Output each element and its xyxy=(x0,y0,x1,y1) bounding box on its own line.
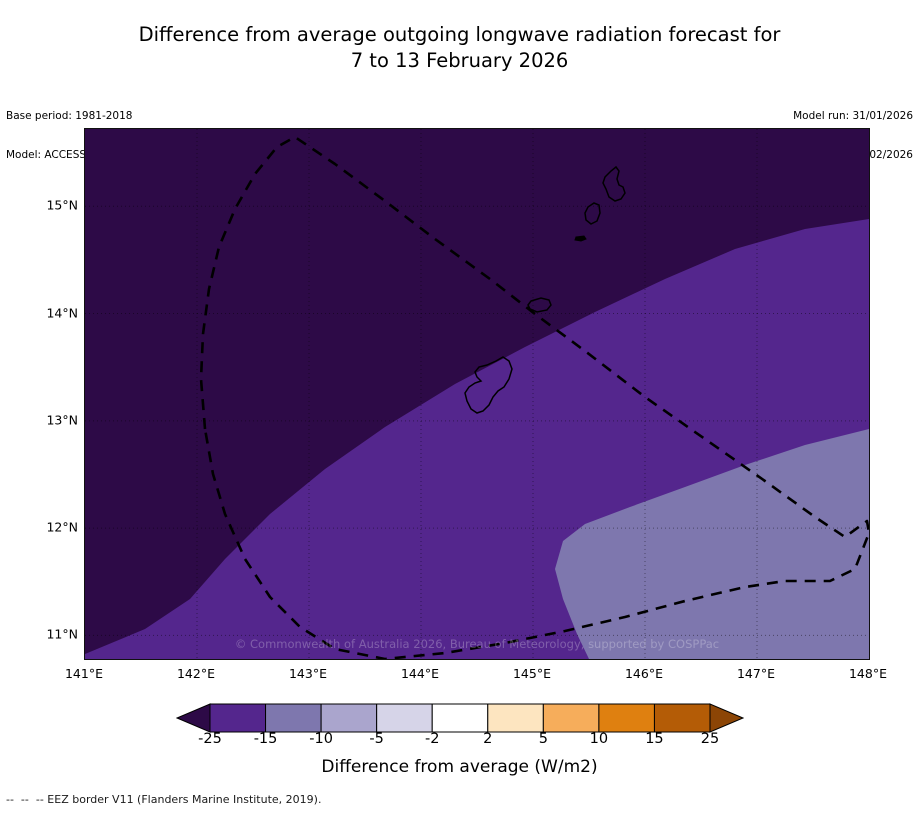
model-run-text: Model run: 31/01/2026 xyxy=(793,110,913,123)
x-tick-label: 143°E xyxy=(268,666,348,681)
colorbar-swatches xyxy=(176,703,744,733)
colorbar-axis-label: Difference from average (W/m2) xyxy=(0,757,919,777)
x-tick-label: 148°E xyxy=(828,666,908,681)
x-axis-tick-labels: 141°E142°E143°E144°E145°E146°E147°E148°E xyxy=(84,666,870,686)
y-tick-label: 12°N xyxy=(4,520,78,535)
colorbar-segment xyxy=(321,704,377,732)
colorbar-extend-max xyxy=(710,704,743,732)
colorbar-extend-min xyxy=(177,704,210,732)
x-tick-label: 145°E xyxy=(492,666,572,681)
x-tick-label: 141°E xyxy=(44,666,124,681)
colorbar-tick-label: -25 xyxy=(180,731,240,747)
y-tick-label: 14°N xyxy=(4,305,78,320)
colorbar-tick-label: 10 xyxy=(569,731,629,747)
colorbar-tick-label: 25 xyxy=(680,731,740,747)
colorbar-tick-labels: -25-15-10-5-225101525 xyxy=(0,731,919,751)
y-axis-tick-labels: 11°N12°N13°N14°N15°N xyxy=(0,128,78,660)
x-tick-label: 142°E xyxy=(156,666,236,681)
colorbar-tick-label: 5 xyxy=(513,731,573,747)
colorbar-tick-label: -2 xyxy=(402,731,462,747)
colorbar-tick-label: -15 xyxy=(236,731,296,747)
colorbar-segment xyxy=(654,704,710,732)
colorbar-segment xyxy=(266,704,322,732)
colorbar-tick-label: -10 xyxy=(291,731,351,747)
colorbar-segment xyxy=(377,704,433,732)
x-tick-label: 146°E xyxy=(604,666,684,681)
colorbar-segment xyxy=(488,704,544,732)
title-line-1: Difference from average outgoing longwav… xyxy=(0,22,919,48)
colorbar-segment xyxy=(599,704,655,732)
base-period-text: Base period: 1981-2018 xyxy=(6,110,132,123)
y-tick-label: 15°N xyxy=(4,198,78,213)
title-line-2: 7 to 13 February 2026 xyxy=(0,48,919,74)
colorbar-segment xyxy=(543,704,599,732)
page-title: Difference from average outgoing longwav… xyxy=(0,22,919,74)
colorbar-tick-label: 15 xyxy=(624,731,684,747)
colorbar: -25-15-10-5-225101525 xyxy=(0,700,919,750)
olr-anomaly-map xyxy=(85,129,869,659)
y-tick-label: 13°N xyxy=(4,412,78,427)
colorbar-tick-label: 2 xyxy=(458,731,518,747)
colorbar-segment xyxy=(432,704,488,732)
colorbar-tick-label: -5 xyxy=(347,731,407,747)
y-tick-label: 11°N xyxy=(4,627,78,642)
x-tick-label: 147°E xyxy=(716,666,796,681)
colorbar-segment xyxy=(210,704,266,732)
eez-legend-note: -- -- -- EEZ border V11 (Flanders Marine… xyxy=(6,793,321,806)
x-tick-label: 144°E xyxy=(380,666,460,681)
map-plot-area: © Commonwealth of Australia 2026, Bureau… xyxy=(84,128,870,660)
